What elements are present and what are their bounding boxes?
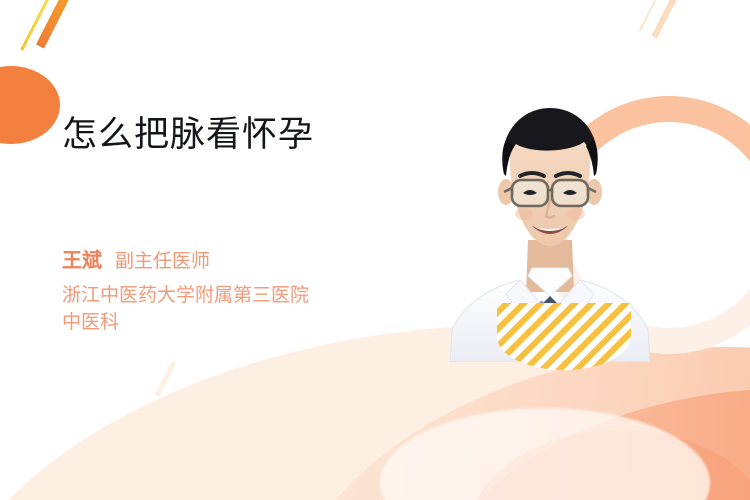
decorative-orange-circle — [0, 66, 60, 144]
doctor-title: 副主任医师 — [115, 248, 210, 276]
doctor-department: 中医科 — [62, 309, 412, 336]
background-wave-blob — [470, 430, 750, 500]
doctor-name-row: 王斌 副主任医师 — [62, 247, 412, 276]
doctor-credentials: 王斌 副主任医师 浙江中医药大学附属第三医院 中医科 — [62, 247, 412, 336]
background-wave-deep — [407, 351, 750, 500]
page-title: 怎么把脉看怀孕 — [62, 112, 402, 158]
headline-block: 怎么把脉看怀孕 — [62, 112, 402, 158]
background-wave-highlight — [380, 408, 710, 500]
doctor-hospital: 浙江中医药大学附属第三医院 — [62, 282, 412, 309]
decorative-stripe-peach-b — [639, 0, 663, 32]
decorative-striped-semicircle — [497, 303, 631, 370]
decorative-stripe-orange — [36, 0, 73, 49]
doctor-info-card: 怎么把脉看怀孕 王斌 副主任医师 浙江中医药大学附属第三医院 中医科 — [0, 0, 750, 500]
decorative-stripe-cream — [155, 361, 177, 397]
decorative-stripe-peach-a — [652, 0, 681, 39]
doctor-name: 王斌 — [62, 247, 102, 275]
decorative-stripe-yellow — [20, 0, 54, 51]
